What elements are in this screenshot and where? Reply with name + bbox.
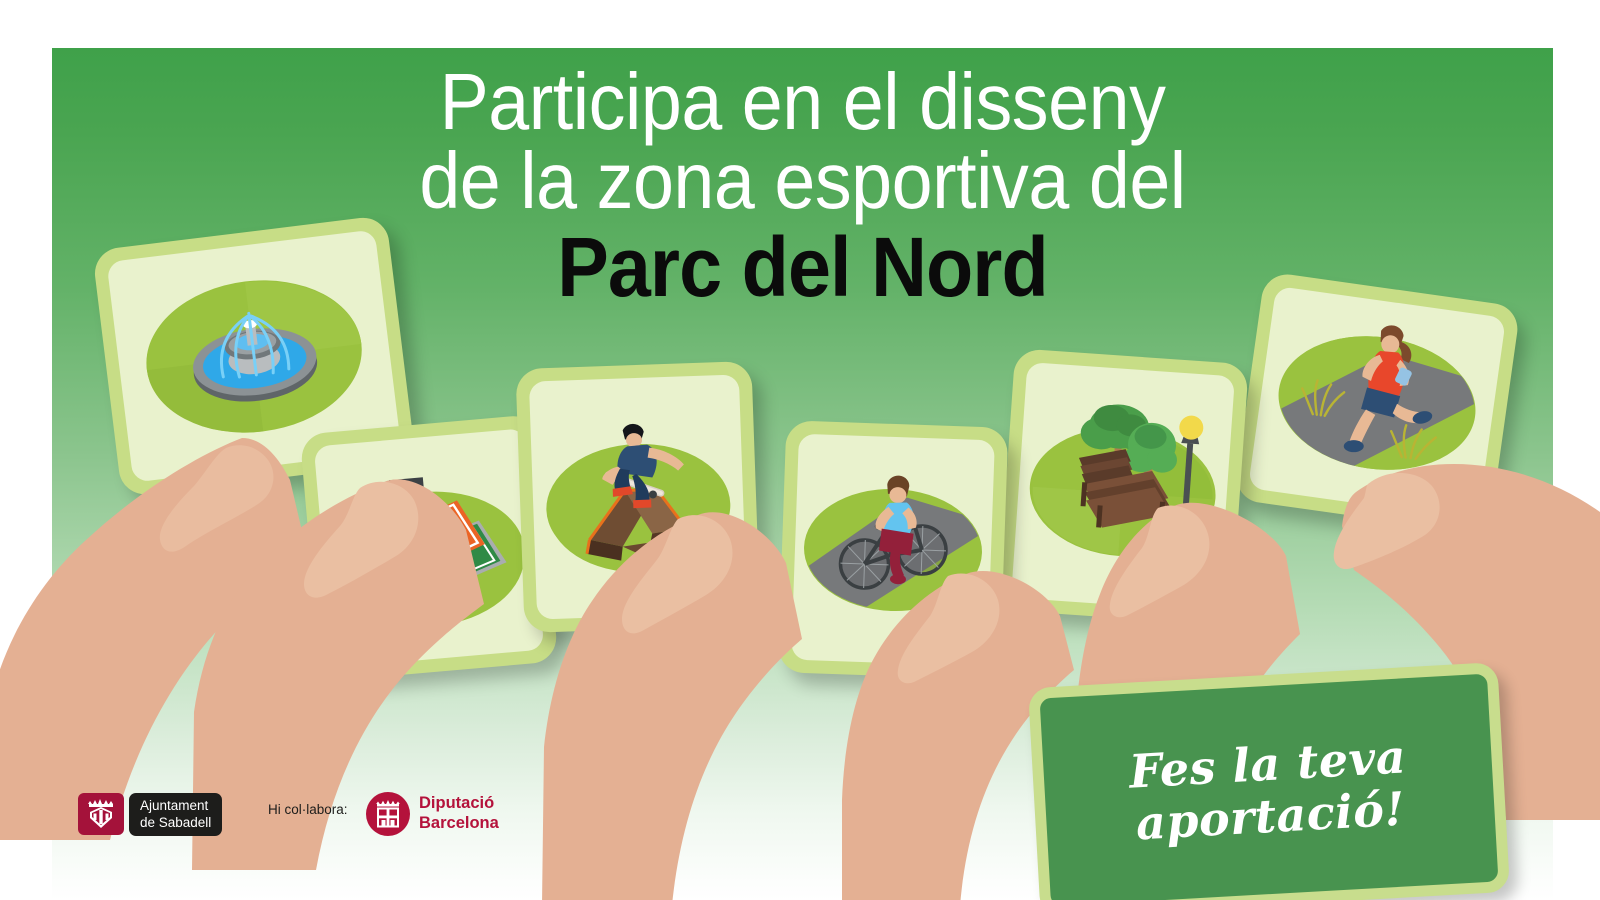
card-sports-court-face — [314, 428, 545, 668]
diputacio-crest-icon — [366, 792, 410, 836]
card-skatepark-face — [529, 374, 747, 619]
card-cycling-face — [791, 434, 995, 667]
ajuntament-line-1: Ajuntament — [140, 797, 211, 814]
card-bench[interactable] — [997, 348, 1249, 626]
collaborator-label: Hi col·labora: — [268, 802, 348, 817]
callout-card[interactable]: Fes la teva aportació! — [1028, 662, 1510, 900]
diputacio-line-2: Barcelona — [419, 814, 499, 834]
card-bench-face — [1011, 362, 1235, 612]
diputacio-wordmark: Diputació Barcelona — [419, 794, 499, 834]
diputacio-barcelona-logo[interactable]: Diputació Barcelona — [366, 792, 499, 836]
sabadell-crest-icon — [78, 793, 124, 835]
cycling-illustration — [791, 434, 995, 667]
ajuntament-de-sabadell-logo[interactable]: Ajuntament de Sabadell — [78, 793, 222, 836]
bench-illustration — [1011, 362, 1235, 612]
ajuntament-wordmark: Ajuntament de Sabadell — [129, 793, 222, 836]
card-cycling[interactable] — [778, 420, 1009, 680]
footer: Ajuntament de Sabadell Hi col·labora: Di… — [0, 790, 1600, 850]
running-illustration — [1248, 286, 1506, 520]
card-running[interactable] — [1233, 271, 1520, 535]
diputacio-line-1: Diputació — [419, 794, 499, 814]
card-skatepark[interactable] — [515, 361, 760, 633]
ajuntament-line-2: de Sabadell — [140, 814, 211, 831]
poster-canvas: Participa en el disseny de la zona espor… — [0, 0, 1600, 900]
sports-court-illustration — [314, 428, 545, 668]
skatepark-illustration — [529, 374, 747, 619]
card-running-face — [1248, 286, 1506, 520]
